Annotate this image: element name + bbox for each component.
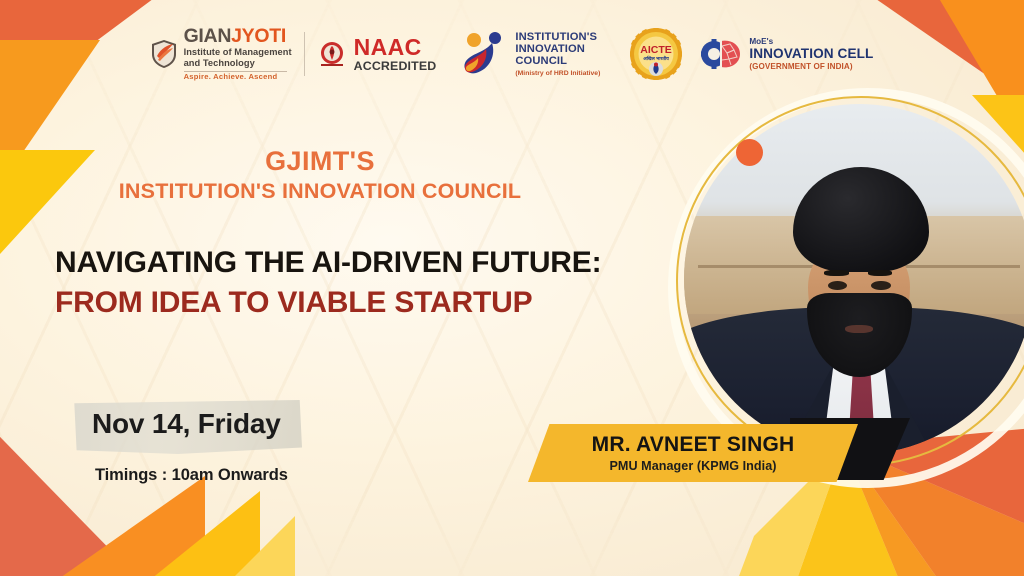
logo-gjimt-subtitle-2: and Technology (184, 59, 292, 68)
svg-text:AICTE: AICTE (641, 44, 673, 56)
corner-shape-bottom-left-d (215, 516, 295, 576)
event-poster: GIANJYOTI Institute of Management and Te… (0, 0, 1024, 576)
logo-gjimt-name-part1: GIAN (184, 25, 232, 47)
event-timings: Timings : 10am Onwards (95, 466, 288, 485)
accreditation-logo-bar: GIANJYOTI Institute of Management and Te… (0, 14, 1024, 94)
logo-gjimt-name-part2: JYOTI (231, 25, 286, 47)
event-title: NAVIGATING THE AI-DRIVEN FUTURE: FROM ID… (55, 246, 601, 319)
speaker-banner: MR. AVNEET SINGH PMU Manager (KPMG India… (528, 424, 858, 482)
aicte-gear-icon: AICTE अखिल भारतीय (628, 26, 684, 82)
naac-emblem-icon (317, 39, 347, 69)
svg-text:अखिल भारतीय: अखिल भारतीय (644, 55, 670, 61)
organizer-line2: INSTITUTION'S INNOVATION COUNCIL (0, 179, 640, 204)
logo-moe-line2: INNOVATION CELL (749, 46, 873, 61)
logo-iic-line2: INNOVATION (515, 43, 600, 55)
logo-iic-subtitle: (Ministry of HRD Initiative) (515, 70, 600, 77)
speaker-portrait (684, 104, 1024, 454)
logo-iic-line3: COUNCIL (515, 55, 600, 67)
logo-iic-line1: INSTITUTION'S (515, 31, 600, 43)
event-title-line2: FROM IDEA TO VIABLE STARTUP (55, 286, 601, 320)
speaker-role: PMU Manager (KPMG India) (609, 459, 776, 473)
ring-accent-dot-icon (736, 139, 763, 166)
logo-naac: NAAC ACCREDITED (317, 36, 437, 72)
logo-naac-title: NAAC (354, 36, 437, 59)
shield-flame-icon (151, 39, 177, 69)
organizer-line1: GJIMT'S (0, 146, 640, 177)
logo-iic-text: INSTITUTION'S INNOVATION COUNCIL (Minist… (515, 31, 600, 77)
speaker-name: MR. AVNEET SINGH (592, 433, 795, 457)
logo-gjimt-text: GIANJYOTI Institute of Management and Te… (184, 27, 292, 81)
logo-naac-text: NAAC ACCREDITED (354, 36, 437, 72)
logo-moe-subtitle: (GOVERNMENT OF INDIA) (749, 62, 873, 71)
logo-gjimt-tagline: Aspire. Achieve. Ascend (184, 73, 292, 81)
logo-gjimt-name: GIANJYOTI (184, 25, 286, 47)
event-date: Nov 14, Friday (92, 408, 281, 440)
logo-divider (304, 32, 305, 76)
logo-gjimt: GIANJYOTI Institute of Management and Te… (151, 27, 292, 81)
logo-iic: INSTITUTION'S INNOVATION COUNCIL (Minist… (462, 29, 600, 79)
logo-gjimt-subtitle-1: Institute of Management (184, 48, 292, 57)
logo-moe-innovation-cell: MoE's INNOVATION CELL (GOVERNMENT OF IND… (700, 36, 873, 72)
iic-figure-icon (462, 29, 508, 79)
event-title-line1: NAVIGATING THE AI-DRIVEN FUTURE: (55, 246, 601, 280)
speaker-photo (684, 104, 1024, 454)
logo-moe-text: MoE's INNOVATION CELL (GOVERNMENT OF IND… (749, 37, 873, 70)
brain-gear-icon (700, 36, 742, 72)
logo-naac-subtitle: ACCREDITED (354, 60, 437, 72)
event-organizer-heading: GJIMT'S INSTITUTION'S INNOVATION COUNCIL (0, 146, 640, 204)
logo-aicte: AICTE अखिल भारतीय (628, 26, 684, 82)
logo-moe-line1: MoE's (749, 37, 873, 46)
